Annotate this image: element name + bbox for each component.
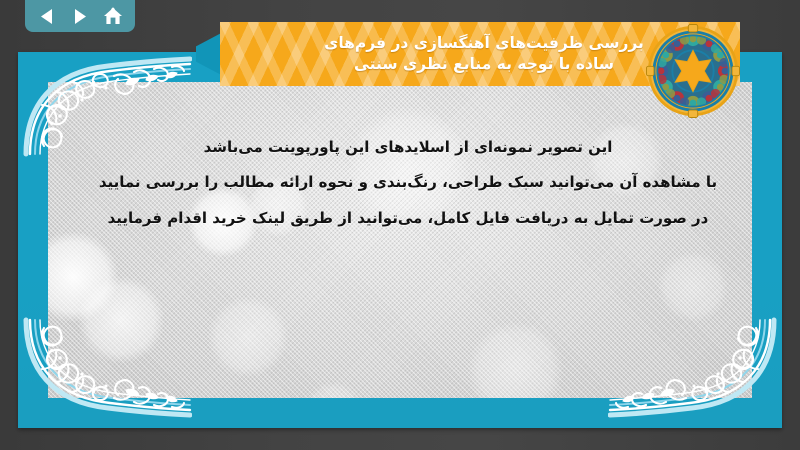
bokeh-circle [658,252,728,322]
slide-body-text: این تصویر نمونه‌ای از اسلایدهای این پاور… [40,130,776,236]
title-line-1: بررسی ظرفیت‌های آهنگسازی در فرم‌های [324,33,644,54]
bokeh-circle [208,297,288,377]
next-slide-button[interactable] [67,5,93,27]
prev-slide-button[interactable] [34,5,60,27]
body-line-1: این تصویر نمونه‌ای از اسلایدهای این پاور… [40,130,776,165]
slide-canvas: بررسی ظرفیت‌های آهنگسازی در فرم‌های ساده… [0,0,800,450]
title-line-2: ساده با توجه به منابع نظری سنتی [354,54,614,75]
islamic-medallion-icon [646,24,740,118]
triangle-right-icon [71,8,88,25]
home-button[interactable] [100,5,126,27]
slide-navigation-bar[interactable] [25,0,135,32]
triangle-left-icon [39,8,56,25]
title-banner: بررسی ظرفیت‌های آهنگسازی در فرم‌های ساده… [196,22,740,86]
home-icon [103,7,123,25]
body-line-2: با مشاهده آن می‌توانید سبک طراحی، رنگ‌بن… [40,165,776,200]
body-line-3: در صورت تمایل به دریافت فایل کامل، می‌تو… [40,201,776,236]
bokeh-circle [78,277,164,363]
